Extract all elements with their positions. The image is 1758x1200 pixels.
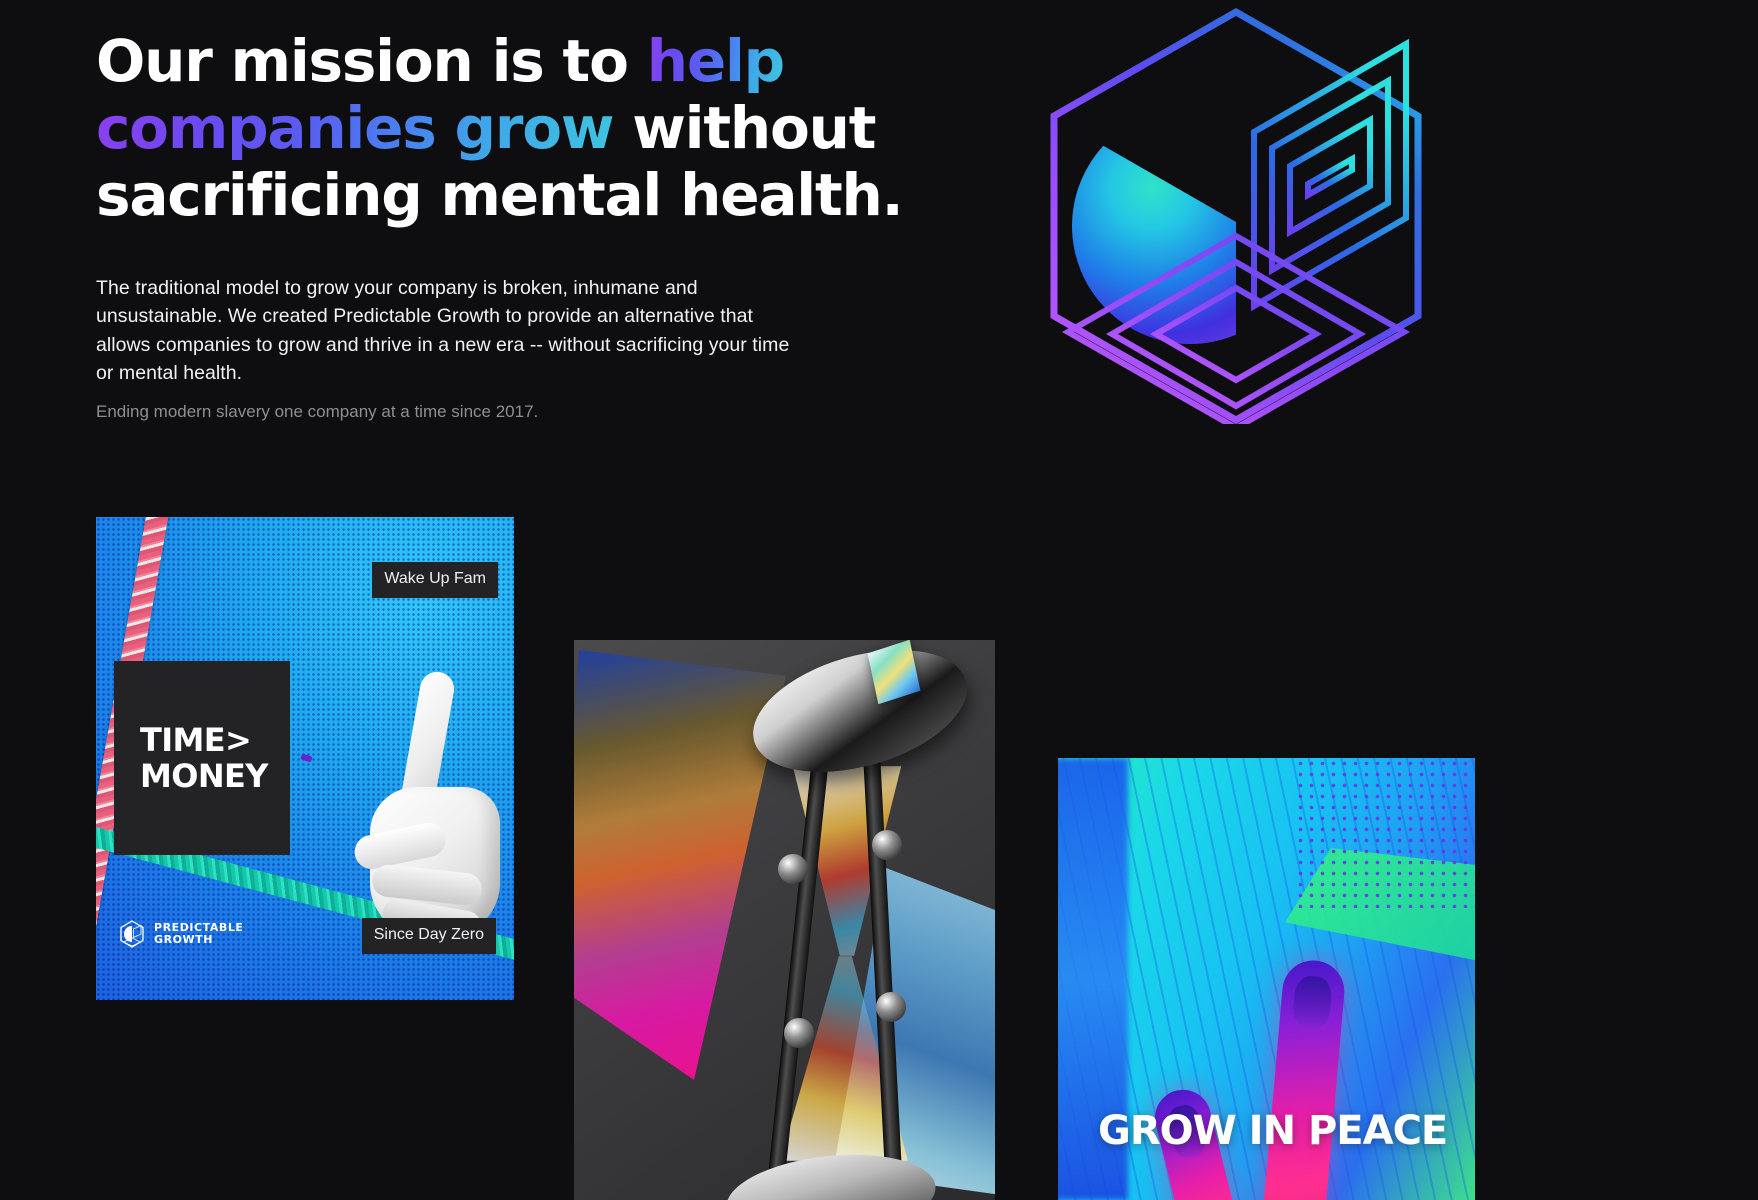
hourglass-bead (872, 830, 902, 860)
brand-line-1: PREDICTABLE (154, 921, 243, 934)
time-money-label: TIME> MONEY (114, 661, 290, 855)
headline-part-plain-1: Our mission is to (96, 27, 647, 95)
predictable-growth-logo: PREDICTABLE GROWTH (119, 920, 243, 948)
time-money-line1: TIME> (140, 721, 251, 759)
brand-line-2: GROWTH (154, 933, 213, 946)
headline-part-gradient-2: companies grow (96, 94, 613, 162)
page-title: Our mission is to help companies grow wi… (96, 28, 916, 229)
badge-since-day-zero[interactable]: Since Day Zero (362, 918, 496, 954)
cube-logo-icon (1040, 4, 1434, 424)
hourglass-bead (876, 992, 906, 1022)
grow-in-peace-title: GROW IN PEACE (1098, 1108, 1447, 1154)
peace-dot-pattern (1295, 758, 1475, 908)
hourglass-bead (778, 854, 808, 884)
card-time-money[interactable]: TIME> MONEY Wake Up Fam Since Day Zero P… (96, 517, 514, 1000)
mission-page: Our mission is to help companies grow wi… (0, 0, 1758, 1200)
headline-part-gradient-1: help (647, 27, 784, 95)
headline-part-plain-3: sacrificing mental health. (96, 161, 902, 229)
headline-part-plain-2: without (613, 94, 875, 162)
mission-body-text: The traditional model to grow your compa… (96, 274, 796, 388)
time-money-line2: MONEY (140, 757, 268, 795)
card-hourglass[interactable] (574, 640, 995, 1200)
hourglass-bead (784, 1018, 814, 1048)
cube-icon (119, 920, 145, 948)
mission-note-text: Ending modern slavery one company at a t… (96, 400, 796, 424)
card-grow-in-peace[interactable]: GROW IN PEACE (1058, 758, 1475, 1200)
badge-wake-up-fam[interactable]: Wake Up Fam (372, 562, 498, 598)
